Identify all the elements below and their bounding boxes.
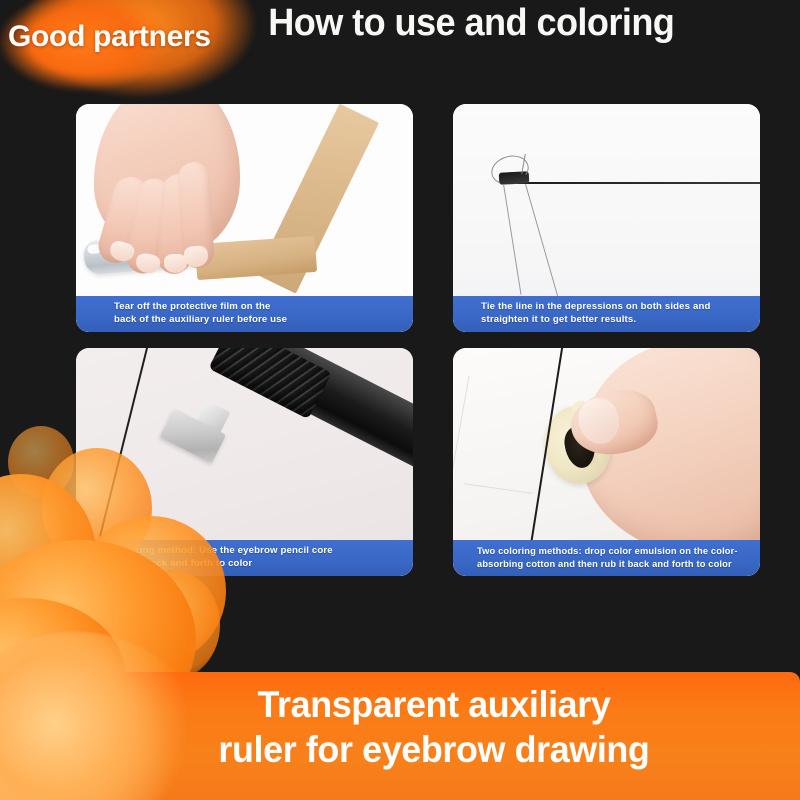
panel-tie-line: Tie the line in the depressions on both …: [453, 104, 760, 332]
caption-line-1: Coloring method: Use the eyebrow pencil …: [114, 545, 413, 557]
panel-caption: Tie the line in the depressions on both …: [453, 296, 760, 332]
caption-line-2: back of the auxiliary ruler before use: [114, 314, 413, 326]
caption-line-2: absorbing cotton and then rub it back an…: [477, 558, 760, 570]
panel-caption: Tear off the protective film on the back…: [76, 296, 413, 332]
caption-line-2: straighten it to get better results.: [481, 314, 760, 326]
panel-caption: Coloring method: Use the eyebrow pencil …: [76, 540, 413, 576]
product-name-line-1: Transparent auxiliary: [12, 682, 788, 727]
steps-grid: Tear off the protective film on the back…: [76, 104, 760, 578]
ink-blob: [8, 426, 74, 498]
caption-line-1: Two coloring methods: drop color emulsio…: [477, 545, 760, 557]
panel-peel-film: Tear off the protective film on the back…: [76, 104, 413, 332]
page-title-text: How to use and coloring: [126, 2, 675, 44]
product-infographic: Good partners How to use and coloring: [0, 0, 800, 800]
caption-line-2: to rub back and forth to color: [114, 558, 413, 570]
panel-cotton-coloring: Two coloring methods: drop color emulsio…: [453, 348, 760, 576]
panel-caption: Two coloring methods: drop color emulsio…: [453, 540, 760, 576]
product-name: Transparent auxiliary ruler for eyebrow …: [12, 682, 788, 772]
panel-pencil-coloring: Coloring method: Use the eyebrow pencil …: [76, 348, 413, 576]
stretched-thread-shape: [517, 182, 760, 184]
page-title: How to use and coloring: [20, 2, 780, 45]
product-name-line-2: ruler for eyebrow drawing: [12, 727, 788, 772]
caption-line-1: Tear off the protective film on the: [114, 301, 413, 313]
header: Good partners How to use and coloring: [0, 0, 800, 78]
caption-line-1: Tie the line in the depressions on both …: [481, 301, 760, 313]
footer-banner: Transparent auxiliary ruler for eyebrow …: [0, 672, 800, 800]
